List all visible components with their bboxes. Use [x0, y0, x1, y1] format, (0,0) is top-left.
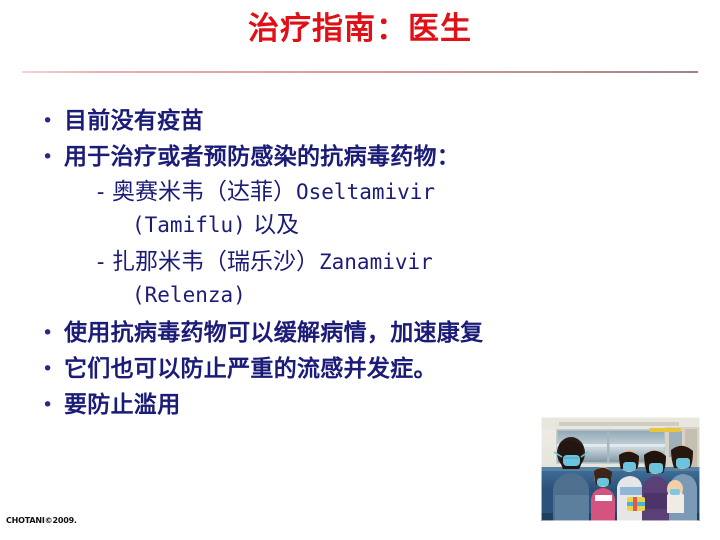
dash-icon: -	[94, 246, 112, 279]
sub-bullet-line2-latin: (Relenza)	[132, 283, 246, 307]
bullet-icon: •	[38, 140, 64, 174]
sub-bullet-line2-latin: (Tamiflu)	[132, 213, 246, 237]
bag-object	[627, 497, 645, 511]
title-block: 治疗指南：医生	[0, 10, 720, 49]
sub-bullet-label: 奥赛米韦（达菲）Oseltamivir (Tamiflu) 以及	[112, 176, 648, 242]
bullet-label: 目前没有疫苗	[64, 104, 648, 138]
person-adult-right-with-baby	[667, 445, 697, 521]
sub-bullet-cjk: 扎那米韦（瑞乐沙）	[112, 249, 319, 275]
bullet-label: 用于治疗或者预防感染的抗病毒药物：	[64, 140, 648, 174]
bullet-icon: •	[38, 388, 64, 422]
photo-illustration	[541, 417, 700, 521]
sub-bullet-line2-cjk: 以及	[246, 212, 299, 238]
bullet-icon: •	[38, 352, 64, 386]
bullet-icon: •	[38, 104, 64, 138]
sub-bullet-list: - 奥赛米韦（达菲）Oseltamivir (Tamiflu) 以及 - 扎那米…	[38, 176, 648, 312]
page-title: 治疗指南：医生	[248, 10, 472, 49]
bullet-label: 它们也可以防止严重的流感并发症。	[64, 352, 648, 386]
person-adult-center-right	[642, 450, 670, 521]
title-divider	[22, 71, 698, 73]
list-item: • 用于治疗或者预防感染的抗病毒药物：	[38, 140, 648, 174]
sub-list-item: - 奥赛米韦（达菲）Oseltamivir (Tamiflu) 以及	[38, 176, 648, 242]
sub-bullet-latin: Oseltamivir	[296, 180, 435, 204]
bullet-icon: •	[38, 316, 64, 350]
slide-canvas: 治疗指南：医生 • 目前没有疫苗 • 用于治疗或者预防感染的抗病毒药物： - 奥…	[0, 0, 720, 540]
sub-bullet-latin: Zanamivir	[319, 250, 433, 274]
bullet-label: 使用抗病毒药物可以缓解病情，加速康复	[64, 316, 648, 350]
sub-bullet-line2: (Tamiflu) 以及	[112, 209, 648, 242]
person-adult-left	[553, 437, 589, 521]
bullet-list: • 目前没有疫苗 • 用于治疗或者预防感染的抗病毒药物： - 奥赛米韦（达菲）O…	[38, 104, 648, 424]
sub-bullet-label: 扎那米韦（瑞乐沙）Zanamivir (Relenza)	[112, 246, 648, 312]
footer-credit: CHOTANI©2009.	[6, 516, 77, 525]
photo-masked-commuters	[541, 417, 700, 521]
person-child-pink	[591, 467, 615, 521]
list-item: • 它们也可以防止严重的流感并发症。	[38, 352, 648, 386]
dash-icon: -	[94, 176, 112, 209]
list-item: • 使用抗病毒药物可以缓解病情，加速康复	[38, 316, 648, 350]
sub-bullet-line2: (Relenza)	[112, 279, 648, 312]
sub-bullet-cjk: 奥赛米韦（达菲）	[112, 179, 296, 205]
sub-list-container: - 奥赛米韦（达菲）Oseltamivir (Tamiflu) 以及 - 扎那米…	[38, 176, 648, 312]
list-item: • 目前没有疫苗	[38, 104, 648, 138]
sub-list-item: - 扎那米韦（瑞乐沙）Zanamivir (Relenza)	[38, 246, 648, 312]
